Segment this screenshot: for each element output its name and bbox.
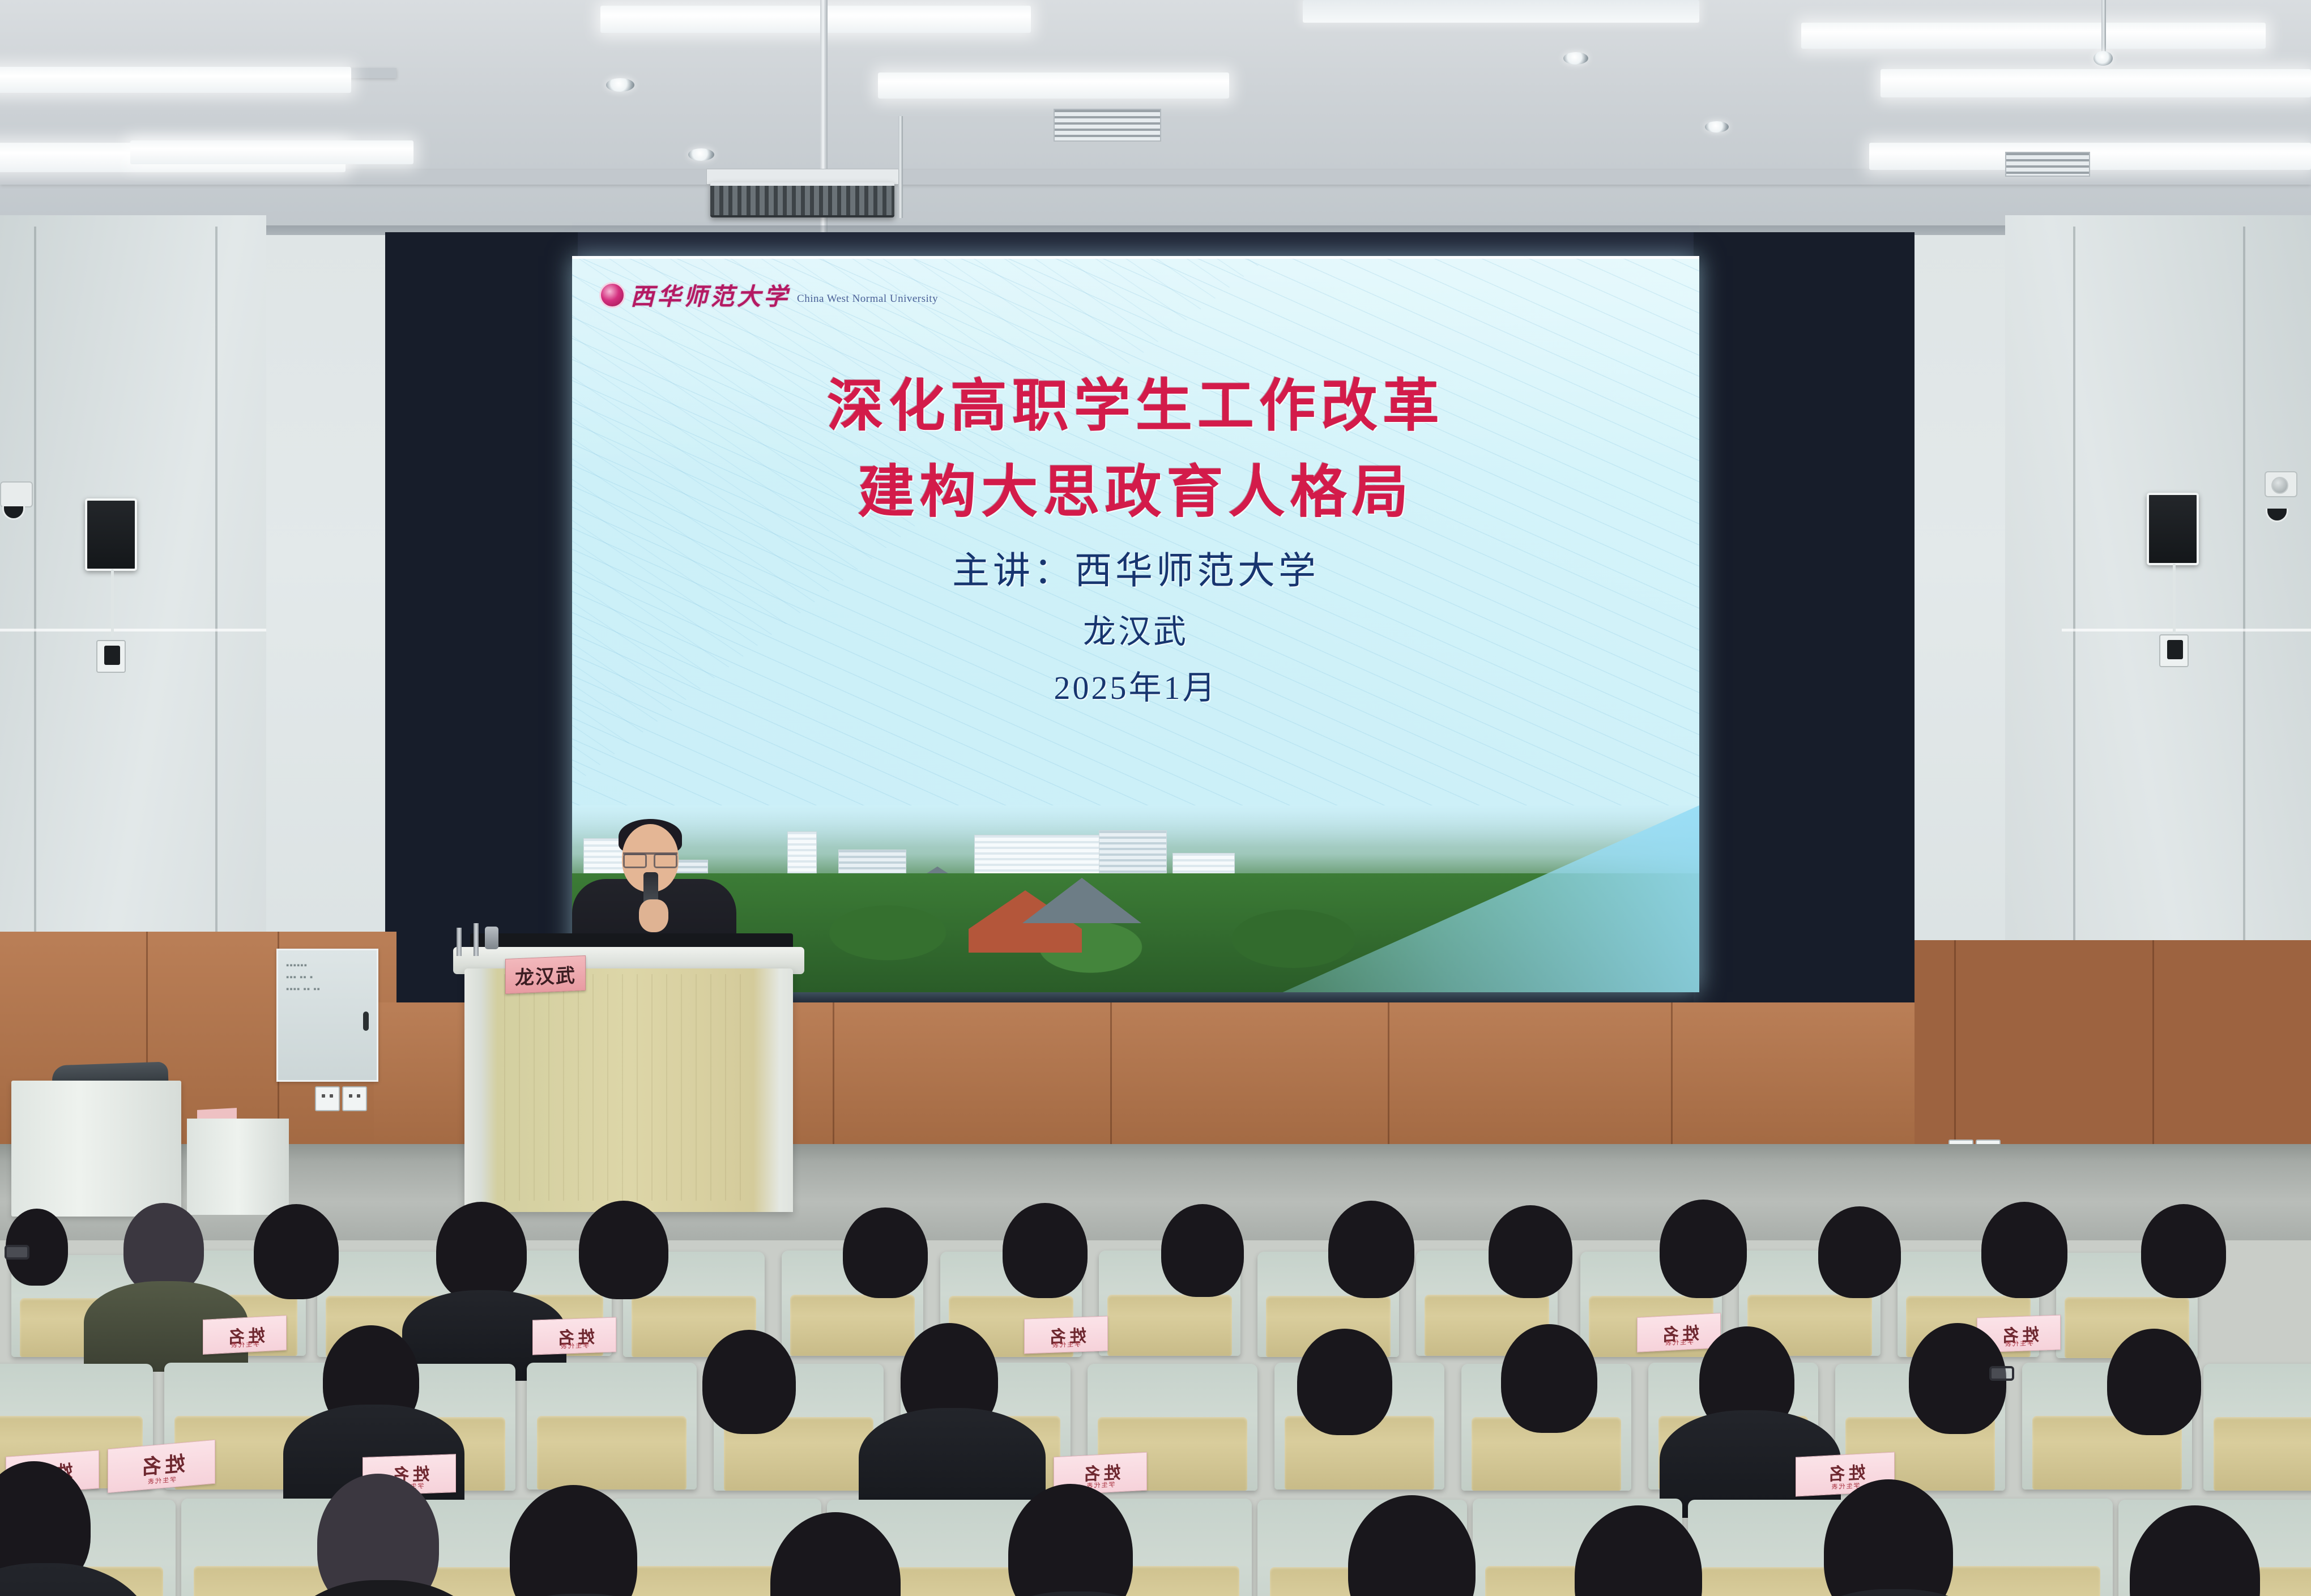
slide-title-line-2: 建构大思政育人格局: [572, 450, 1699, 536]
lecture-hall-photo: 西华师范大学 China West Normal University 深化高职…: [0, 0, 2311, 1596]
right-small-camera: [2159, 634, 2189, 667]
slide-title-line-1: 深化高职学生工作改革: [572, 364, 1699, 450]
panel-handle[interactable]: [363, 1012, 369, 1031]
seat-namecard: 姓名 学生代表: [203, 1315, 287, 1355]
ceiling-light-panel: [1881, 69, 2311, 97]
ceiling-light-panel: [1303, 0, 1699, 23]
secondary-cabinet: [187, 1119, 289, 1215]
projector-support-rod: [898, 116, 903, 218]
left-cctv-mount: [0, 481, 33, 507]
ceiling-downlight: [1563, 52, 1588, 65]
podium-nameplate-text: 龙汉武: [515, 959, 576, 990]
gooseneck-mic-stand: [457, 928, 462, 956]
audience-head: [1981, 1202, 2067, 1298]
audience-head: [843, 1207, 928, 1298]
ceiling-beam: [0, 170, 2311, 185]
left-wall-speaker: [85, 498, 137, 571]
university-seal-icon: [599, 282, 625, 308]
audience-head: [1003, 1203, 1088, 1298]
audience-head: [254, 1204, 339, 1299]
audience-head: [1328, 1201, 1414, 1298]
ceiling-downlight: [688, 148, 714, 161]
wall-seam: [0, 629, 266, 631]
slide-title-block: 深化高职学生工作改革 建构大思政育人格局: [572, 364, 1699, 536]
audience-head: [1489, 1205, 1572, 1298]
slide-subtitle-block: 主讲：西华师范大学 龙汉武 2025年1月: [572, 539, 1699, 716]
wall-seam: [2062, 629, 2311, 631]
seat-pad: [790, 1295, 915, 1356]
wainscot-seam: [1954, 940, 1956, 1155]
audience-head: [1660, 1200, 1747, 1298]
audience-head: [1824, 1479, 1953, 1596]
audience-seating: 姓名 学生代表 姓名 学生代表 姓名 学生代表 姓名 学生代表 姓名 学生代表: [0, 1218, 2311, 1596]
left-small-camera: [96, 640, 126, 673]
seat-pad: [537, 1416, 687, 1490]
air-conditioning-vent: [2005, 152, 2090, 177]
ceiling-light-panel: [1869, 143, 2311, 170]
mic-base: [485, 927, 498, 949]
audience-glasses-icon: [5, 1245, 29, 1260]
seat-pad: [1107, 1295, 1232, 1356]
audience-head: [579, 1201, 668, 1299]
ceiling-downlight: [606, 78, 634, 92]
power-outlet[interactable]: [342, 1086, 367, 1111]
ceiling-light-panel: [130, 140, 413, 164]
seat-namecard: 姓名 学生代表: [108, 1440, 215, 1493]
wainscot-seam: [1110, 1002, 1112, 1153]
logo-chinese-name: 西华师范大学: [630, 278, 790, 312]
speaker-glasses-icon: [623, 852, 677, 864]
ceiling-light-panel: [600, 6, 1031, 33]
backdrop-right-panel: [1694, 232, 1915, 1008]
ceiling-fixture-icon: [2093, 51, 2113, 66]
university-logo: 西华师范大学 China West Normal University: [599, 278, 938, 312]
speaker-cable: [2173, 564, 2176, 637]
logo-english-name: China West Normal University: [797, 293, 938, 305]
wall-panel-label: ▪▪▪▪▪▪▪▪▪ ▪▪ ▪▪▪▪▪ ▪▪ ▪▪: [286, 959, 321, 995]
ceiling-downlight: [1705, 121, 1729, 133]
air-conditioning-vent: [1054, 109, 1161, 142]
audience-head: [1297, 1329, 1392, 1435]
slide-presenter-affiliation: 主讲：西华师范大学: [572, 539, 1699, 604]
power-outlet[interactable]: [315, 1086, 340, 1111]
seat[interactable]: [2203, 1364, 2311, 1491]
right-wainscot-panel: [1915, 940, 2311, 1155]
podium-wood-front: [504, 974, 753, 1201]
seat[interactable]: [527, 1363, 697, 1490]
audience-head: [2107, 1329, 2201, 1435]
podium-nameplate: 龙汉武: [505, 955, 586, 994]
right-wall-speaker: [2147, 493, 2199, 565]
ceiling-rod: [2101, 0, 2106, 57]
speaker-hand: [639, 899, 668, 932]
ceiling-light-panel: [878, 72, 1229, 99]
ceiling-light-panel: [0, 67, 351, 93]
screen-top-edge: [572, 256, 1699, 259]
seat-namecard: 姓名 学生代表: [532, 1317, 616, 1355]
audience-head: [436, 1202, 527, 1301]
audience-head: [1501, 1324, 1597, 1433]
speaker-cable: [111, 569, 114, 637]
seat-namecard: 姓名 学生代表: [1637, 1313, 1721, 1352]
ceiling-light-panel: [1801, 23, 2266, 49]
wainscot-seam: [1671, 1002, 1673, 1153]
seat-namecard: 姓名 学生代表: [1024, 1316, 1108, 1354]
audience-head: [123, 1203, 204, 1294]
right-cctv-dome-icon: [2271, 477, 2288, 494]
av-cabinet: [11, 1081, 181, 1217]
projection-screen: 西华师范大学 China West Normal University 深化高职…: [572, 256, 1699, 992]
projector-mount-pole: [820, 0, 828, 170]
audience-head: [1161, 1204, 1244, 1297]
wainscot-seam: [1388, 1002, 1389, 1153]
audience-glasses-icon: [1989, 1366, 2014, 1381]
audience-head: [2141, 1204, 2226, 1298]
audience-head: [1818, 1206, 1901, 1298]
camera-lens-icon: [2167, 640, 2183, 659]
wainscot-seam: [833, 1002, 834, 1153]
seat-pad: [2214, 1417, 2311, 1491]
wall-control-panel[interactable]: ▪▪▪▪▪▪▪▪▪ ▪▪ ▪▪▪▪▪ ▪▪ ▪▪: [276, 949, 378, 1082]
slide-date: 2025年1月: [572, 660, 1699, 716]
backdrop-left-panel: [385, 232, 578, 1008]
gooseneck-mic-stand: [474, 923, 479, 956]
wainscot-seam: [2152, 940, 2154, 1155]
projector-unit: [710, 182, 894, 217]
slide-presenter-name: 龙汉武: [572, 604, 1699, 660]
audience-head: [702, 1330, 796, 1434]
camera-lens-icon: [104, 646, 120, 665]
